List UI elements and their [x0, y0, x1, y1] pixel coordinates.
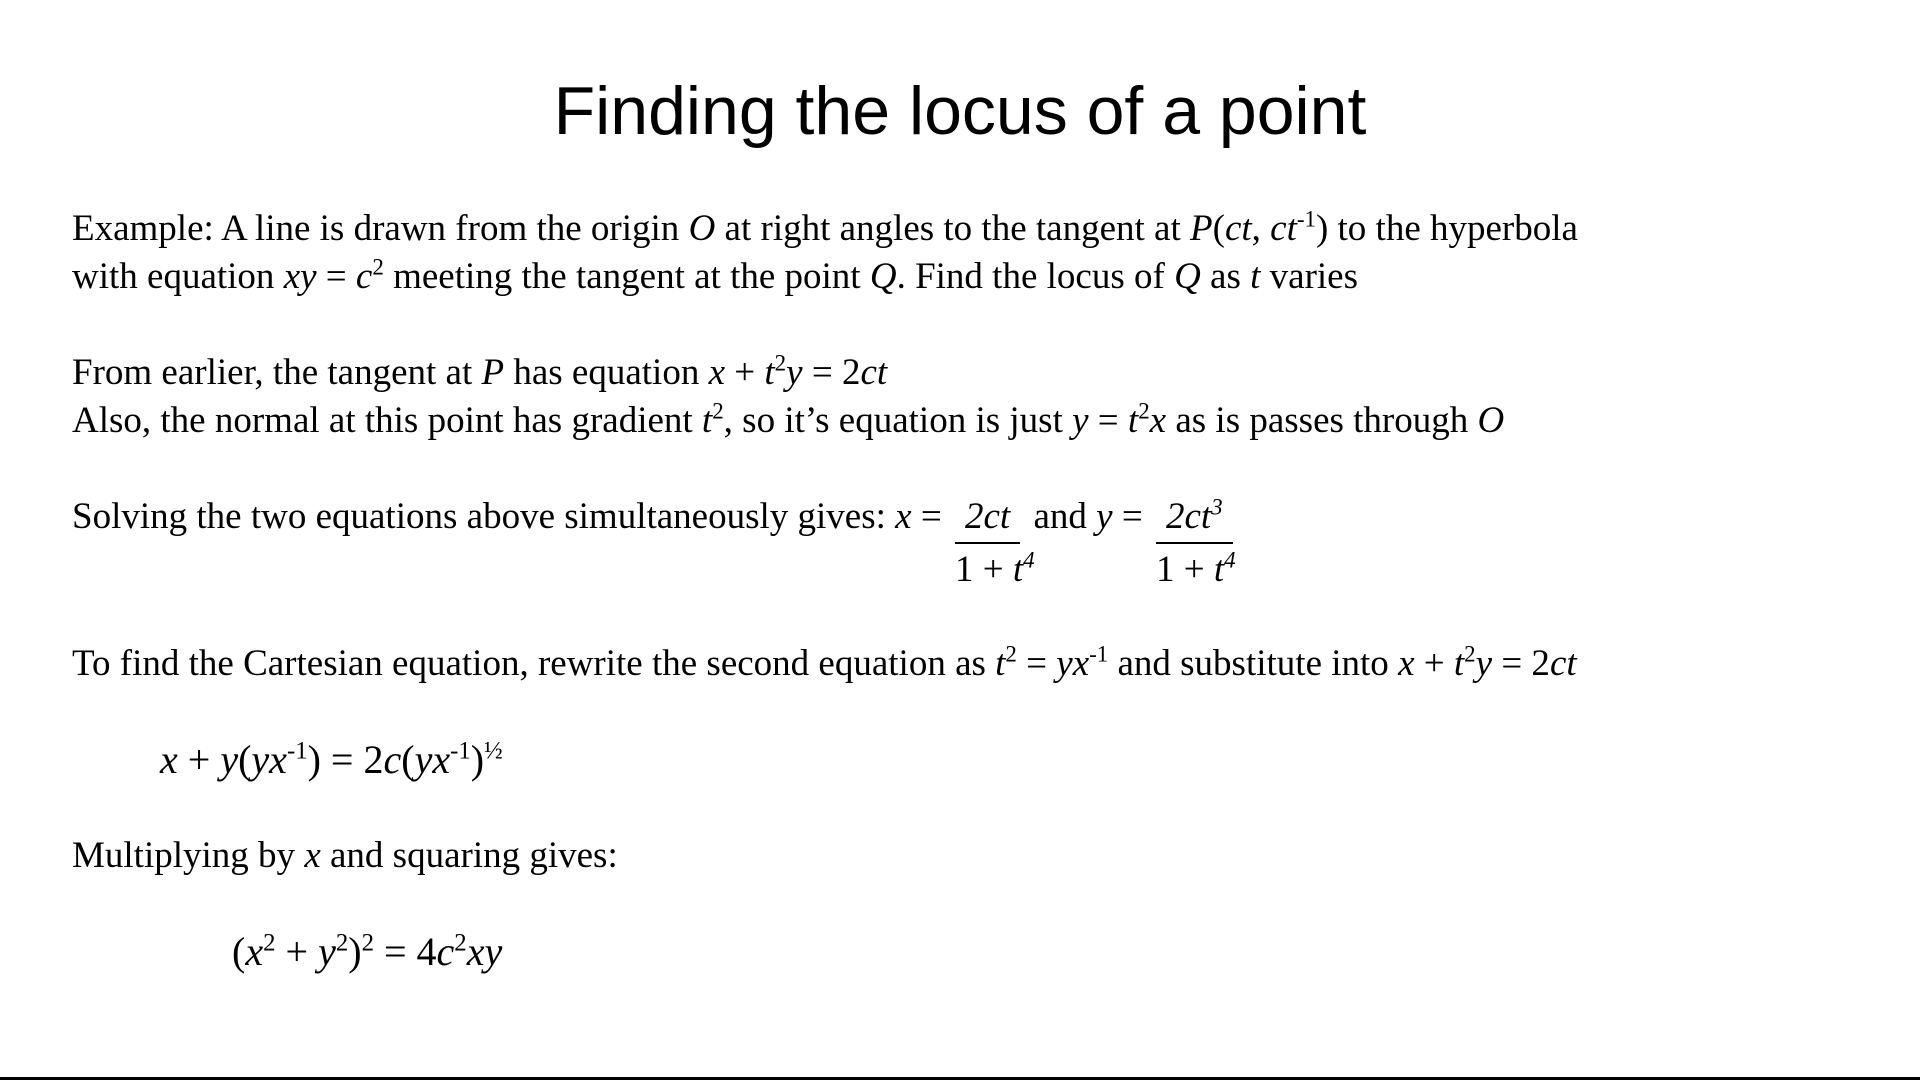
text-run: = [317, 256, 356, 297]
text-run: to the hyperbola [1328, 208, 1578, 249]
slide-body: Example: A line is drawn from the origin… [72, 205, 1872, 976]
text-run: = 2 [803, 352, 861, 393]
superscript: 3 [1211, 495, 1222, 520]
superscript: 2 [1138, 399, 1149, 424]
math-var-t: t [1013, 549, 1023, 590]
text-run: varies [1260, 256, 1358, 297]
earlier-line-2: Also, the normal at this point has gradi… [72, 397, 1872, 445]
text-run: + [1415, 643, 1454, 684]
math-var-t: t [1128, 400, 1138, 441]
math-var-y: y [220, 737, 238, 782]
text-run: and squaring gives: [321, 835, 618, 876]
superscript: 2 [336, 930, 348, 957]
superscript-half: ½ [484, 738, 503, 765]
math-var-t: t [1454, 643, 1464, 684]
text-run: 1 + [1156, 549, 1214, 590]
math-run: 2ct [965, 496, 1010, 537]
text-run: = 4 [374, 929, 437, 974]
math-var-y: y [1096, 496, 1112, 537]
math-var-Q: Q [1174, 256, 1201, 297]
text-run: and substitute into [1108, 643, 1398, 684]
fraction-denominator: 1 + t4 [955, 544, 1020, 594]
fraction-numerator: 2ct3 [1156, 493, 1233, 544]
math-var-Q: Q [870, 256, 897, 297]
math-var-c: c [383, 737, 401, 782]
text-run: 1 + [955, 549, 1013, 590]
paragraph-example: Example: A line is drawn from the origin… [72, 205, 1872, 301]
text-run: + [276, 929, 319, 974]
math-var-ct: ct [1225, 208, 1252, 249]
text-run: ) [471, 737, 484, 782]
equation-line: x + y(yx-1) = 2c(yx-1)½ [160, 736, 1872, 784]
math-var-ct: ct [860, 352, 887, 393]
math-var-x: x [160, 737, 178, 782]
math-var-yx: yx [1056, 643, 1089, 684]
math-var-P: P [1190, 208, 1213, 249]
text-run: at right angles to the tangent at [715, 208, 1190, 249]
superscript: 4 [1023, 548, 1034, 573]
text-run: as is passes through [1166, 400, 1477, 441]
math-var-t: t [702, 400, 712, 441]
cartesian-line: To find the Cartesian equation, rewrite … [72, 640, 1872, 688]
text-run: = [1089, 400, 1128, 441]
text-run: , [1252, 208, 1271, 249]
superscript: 2 [1464, 642, 1475, 667]
text-run: as [1201, 256, 1250, 297]
math-var-y: y [1476, 643, 1492, 684]
fraction-x: 2ct1 + t4 [955, 493, 1020, 544]
text-run: = [1113, 496, 1152, 537]
math-var-x: x [1398, 643, 1414, 684]
math-var-t: t [995, 643, 1005, 684]
math-var-yx: yx [251, 737, 287, 782]
text-run: . Find the locus of [897, 256, 1174, 297]
paragraph-from-earlier: From earlier, the tangent at P has equat… [72, 349, 1872, 445]
text-run: = [912, 496, 951, 537]
superscript: -1 [1297, 207, 1316, 232]
paragraph-spacer [72, 592, 1872, 640]
paragraph-solving: Solving the two equations above simultan… [72, 493, 1872, 544]
text-run: From earlier, the tangent at [72, 352, 481, 393]
text-run: Example: A line is drawn from the origin [72, 208, 689, 249]
fraction-numerator: 2ct [955, 493, 1020, 544]
text-run: ( [238, 737, 251, 782]
multiplying-line: Multiplying by x and squaring gives: [72, 832, 1872, 880]
math-var-xy: xy [467, 929, 503, 974]
math-var-P: P [481, 352, 504, 393]
example-line-2: with equation xy = c2 meeting the tangen… [72, 253, 1872, 301]
text-run: , so it’s equation is just [724, 400, 1072, 441]
text-run: ( [232, 929, 245, 974]
text-run: with equation [72, 256, 284, 297]
text-run: ) [348, 929, 361, 974]
math-var-y: y [786, 352, 802, 393]
math-var-O: O [689, 208, 716, 249]
math-var-y: y [318, 929, 336, 974]
fraction-y: 2ct31 + t4 [1156, 493, 1233, 544]
text-run: = 2 [1492, 643, 1550, 684]
superscript: -1 [1089, 642, 1108, 667]
math-run: 2ct [1166, 496, 1211, 537]
text-run: To find the Cartesian equation, rewrite … [72, 643, 995, 684]
math-var-c: c [356, 256, 372, 297]
paragraph-multiplying: Multiplying by x and squaring gives: [72, 832, 1872, 880]
text-run: ( [1213, 208, 1225, 249]
math-var-O: O [1478, 400, 1505, 441]
text-run: Solving the two equations above simultan… [72, 496, 895, 537]
text-run: meeting the tangent at the point [384, 256, 870, 297]
text-run: + [178, 737, 221, 782]
math-var-t: t [1250, 256, 1260, 297]
math-var-ct: ct [1270, 208, 1297, 249]
math-var-t: t [764, 352, 774, 393]
paragraph-spacer [72, 688, 1872, 736]
math-var-yx: yx [415, 737, 451, 782]
fraction-denominator: 1 + t4 [1156, 544, 1233, 594]
superscript: 2 [1005, 642, 1016, 667]
text-run: ) [308, 737, 321, 782]
paragraph-spacer [72, 445, 1872, 493]
text-run: + [725, 352, 764, 393]
paragraph-spacer [72, 880, 1872, 928]
superscript: -1 [450, 738, 471, 765]
text-run: ) [1316, 208, 1328, 249]
superscript: 2 [454, 930, 466, 957]
text-run: Also, the normal at this point has gradi… [72, 400, 702, 441]
paragraph-spacer [72, 784, 1872, 832]
text-run: Multiplying by [72, 835, 304, 876]
text-run: = [1017, 643, 1056, 684]
equation-substituted: x + y(yx-1) = 2c(yx-1)½ [72, 736, 1872, 784]
math-var-ct: ct [1550, 643, 1577, 684]
text-run: ( [401, 737, 414, 782]
text-run: = 2 [321, 737, 384, 782]
paragraph-cartesian: To find the Cartesian equation, rewrite … [72, 640, 1872, 688]
paragraph-spacer [72, 301, 1872, 349]
math-var-x: x [709, 352, 725, 393]
math-var-t: t [1214, 549, 1224, 590]
text-run: has equation [504, 352, 708, 393]
superscript: -1 [287, 738, 308, 765]
math-var-xy: xy [284, 256, 317, 297]
math-var-c: c [437, 929, 455, 974]
superscript: 2 [775, 351, 786, 376]
math-var-x: x [1150, 400, 1166, 441]
math-var-y: y [1072, 400, 1088, 441]
superscript: 2 [362, 930, 374, 957]
text-run: and [1024, 496, 1096, 537]
math-var-x: x [895, 496, 911, 537]
superscript: 2 [372, 255, 383, 280]
math-var-x: x [245, 929, 263, 974]
solving-line: Solving the two equations above simultan… [72, 493, 1872, 544]
example-line-1: Example: A line is drawn from the origin… [72, 205, 1872, 253]
superscript: 4 [1224, 548, 1235, 573]
slide-title: Finding the locus of a point [0, 76, 1920, 147]
math-var-x: x [304, 835, 320, 876]
equation-final: (x2 + y2)2 = 4c2xy [72, 928, 1872, 976]
superscript: 2 [712, 399, 723, 424]
earlier-line-1: From earlier, the tangent at P has equat… [72, 349, 1872, 397]
slide-canvas: Finding the locus of a point Example: A … [0, 0, 1920, 1080]
equation-line: (x2 + y2)2 = 4c2xy [232, 928, 1872, 976]
superscript: 2 [263, 930, 275, 957]
